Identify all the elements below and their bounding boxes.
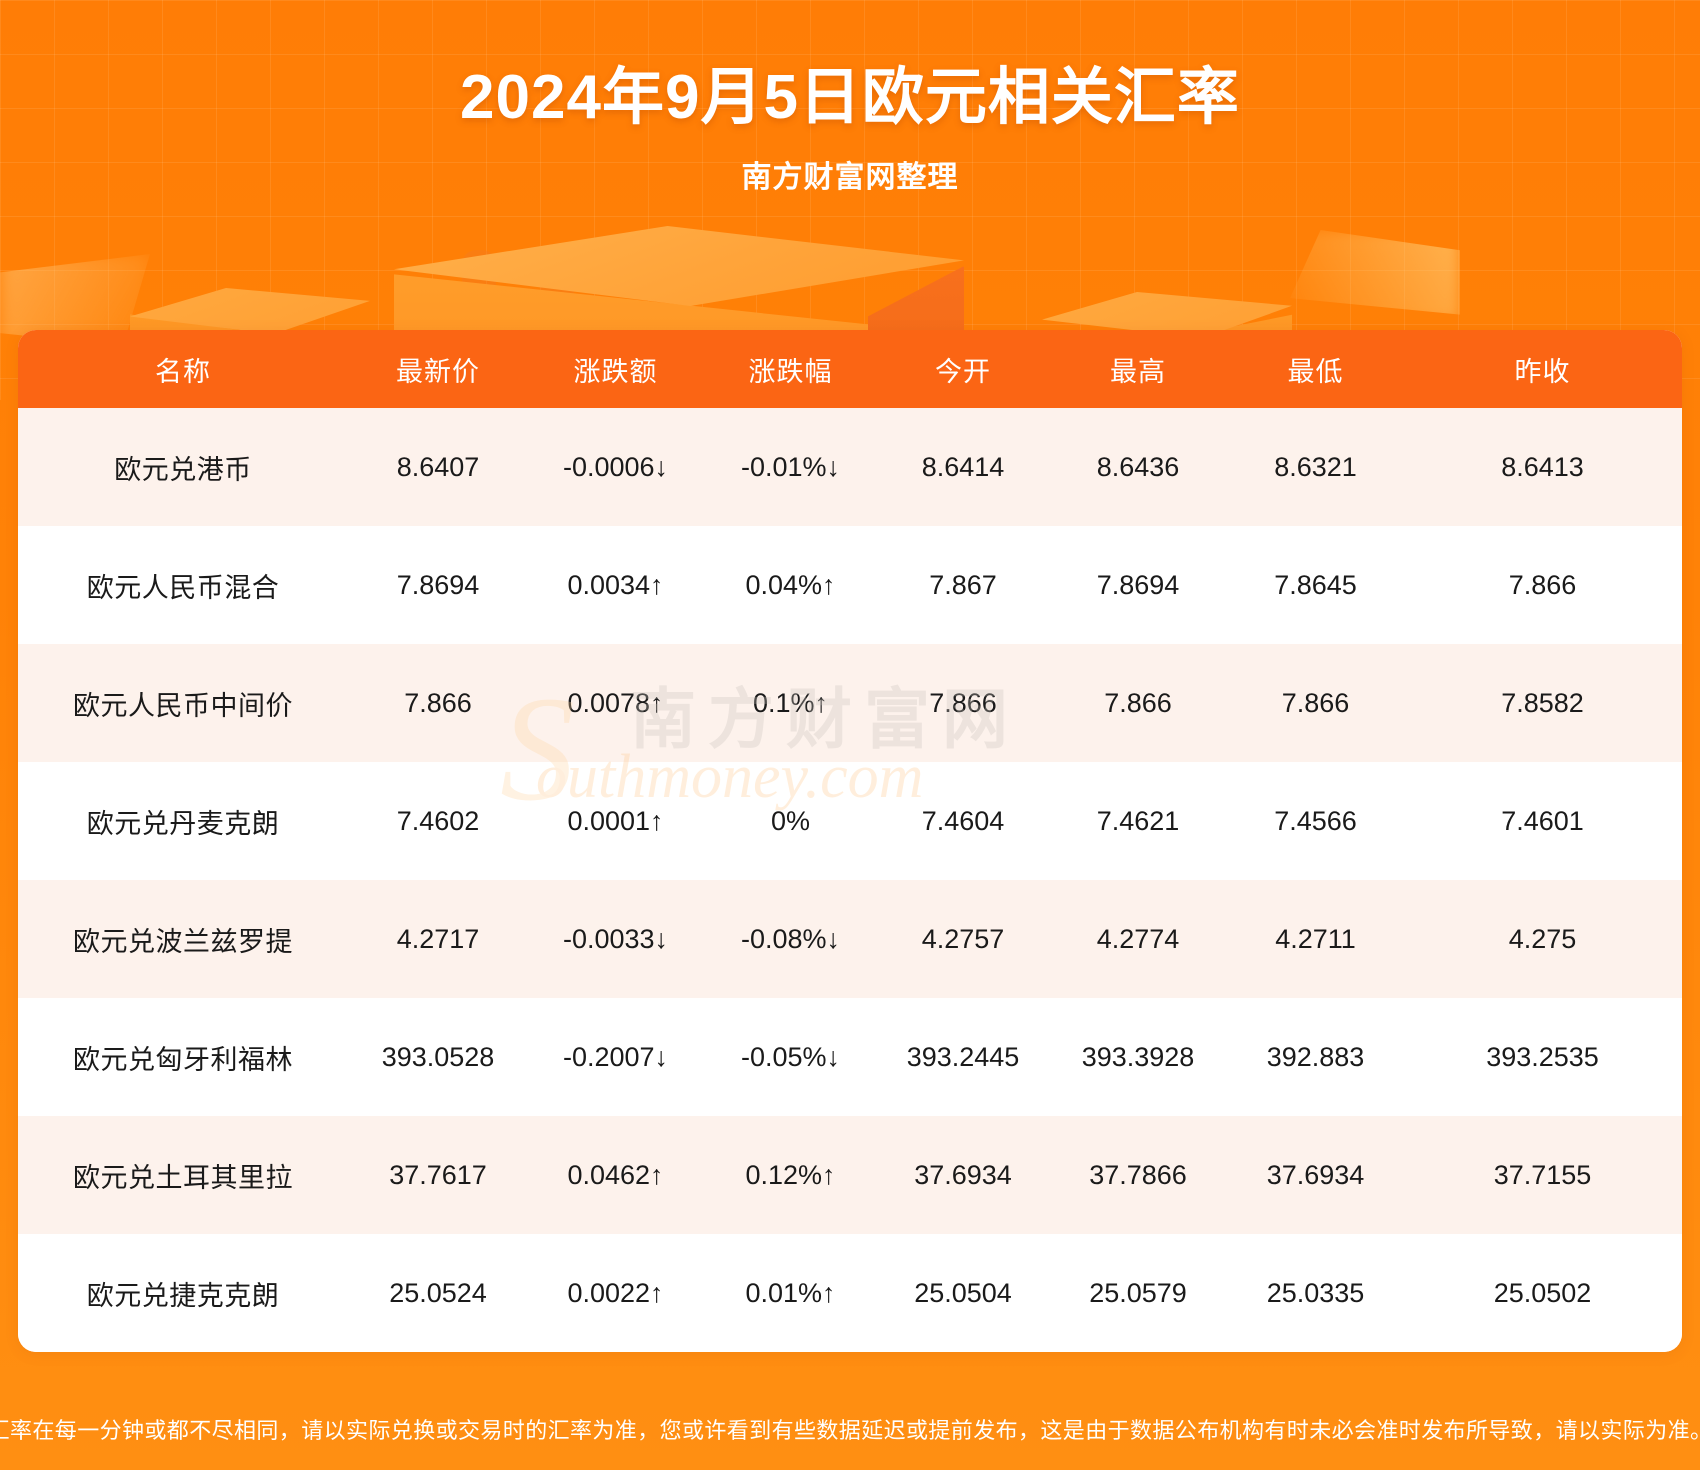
cell-open-price: 7.867 [878,526,1048,644]
cell-open-price: 7.866 [878,644,1048,762]
cell-change-amount: -0.0033↓ [528,880,703,998]
cell-change-percent: -0.05%↓ [703,998,878,1116]
cell-prev-close: 37.7155 [1403,1116,1682,1234]
cell-high-price: 7.8694 [1048,526,1228,644]
cell-prev-close: 7.866 [1403,526,1682,644]
cell-open-price: 393.2445 [878,998,1048,1116]
cell-currency-name: 欧元兑土耳其里拉 [18,1116,348,1234]
column-header-change[interactable]: 涨跌额 [528,330,703,408]
cell-high-price: 7.866 [1048,644,1228,762]
cell-low-price: 4.2711 [1228,880,1403,998]
cell-prev-close: 25.0502 [1403,1234,1682,1352]
disclaimer-text: 汇率在每一分钟或都不尽相同，请以实际兑换或交易时的汇率为准，您或许看到有些数据延… [0,1413,1700,1445]
cell-high-price: 37.7866 [1048,1116,1228,1234]
column-header-prev[interactable]: 昨收 [1403,330,1682,408]
cell-open-price: 7.4604 [878,762,1048,880]
cell-change-amount: 0.0462↑ [528,1116,703,1234]
cell-latest-price: 393.0528 [348,998,528,1116]
cell-latest-price: 25.0524 [348,1234,528,1352]
cell-low-price: 7.4566 [1228,762,1403,880]
cell-change-percent: -0.08%↓ [703,880,878,998]
cell-change-percent: 0% [703,762,878,880]
cell-latest-price: 8.6407 [348,408,528,526]
cell-change-amount: -0.2007↓ [528,998,703,1116]
column-header-pct[interactable]: 涨跌幅 [703,330,878,408]
table-row[interactable]: 欧元人民币中间价7.8660.0078↑0.1%↑7.8667.8667.866… [18,644,1682,762]
page-title: 2024年9月5日欧元相关汇率 [0,46,1700,136]
exchange-rate-infographic: 2024年9月5日欧元相关汇率 南方财富网整理 名称 最新价 涨跌额 涨跌幅 今… [0,0,1700,1470]
table-header: 名称 最新价 涨跌额 涨跌幅 今开 最高 最低 昨收 [18,330,1682,408]
cell-latest-price: 7.8694 [348,526,528,644]
footer: 汇率在每一分钟或都不尽相同，请以实际兑换或交易时的汇率为准，您或许看到有些数据延… [0,1388,1700,1470]
table-row[interactable]: 欧元兑港币8.6407-0.0006↓-0.01%↓8.64148.64368.… [18,408,1682,526]
column-header-name[interactable]: 名称 [18,330,348,408]
cell-change-percent: 0.01%↑ [703,1234,878,1352]
cell-change-percent: 0.1%↑ [703,644,878,762]
banner: 2024年9月5日欧元相关汇率 南方财富网整理 [0,0,1700,330]
rates-card: 名称 最新价 涨跌额 涨跌幅 今开 最高 最低 昨收 欧元兑港币8.6407-0… [18,330,1682,1352]
cell-currency-name: 欧元兑匈牙利福林 [18,998,348,1116]
column-header-low[interactable]: 最低 [1228,330,1403,408]
column-header-price[interactable]: 最新价 [348,330,528,408]
cell-prev-close: 393.2535 [1403,998,1682,1116]
table-row[interactable]: 欧元兑丹麦克朗7.46020.0001↑0%7.46047.46217.4566… [18,762,1682,880]
cell-open-price: 25.0504 [878,1234,1048,1352]
cell-change-amount: 0.0022↑ [528,1234,703,1352]
cell-low-price: 7.866 [1228,644,1403,762]
table-row[interactable]: 欧元兑土耳其里拉37.76170.0462↑0.12%↑37.693437.78… [18,1116,1682,1234]
cell-low-price: 392.883 [1228,998,1403,1116]
cell-currency-name: 欧元兑捷克克朗 [18,1234,348,1352]
cell-high-price: 7.4621 [1048,762,1228,880]
cell-high-price: 8.6436 [1048,408,1228,526]
cell-change-percent: 0.04%↑ [703,526,878,644]
cell-high-price: 4.2774 [1048,880,1228,998]
table-row[interactable]: 欧元兑匈牙利福林393.0528-0.2007↓-0.05%↓393.24453… [18,998,1682,1116]
cell-change-percent: 0.12%↑ [703,1116,878,1234]
cell-latest-price: 7.4602 [348,762,528,880]
cell-low-price: 37.6934 [1228,1116,1403,1234]
cell-low-price: 7.8645 [1228,526,1403,644]
cell-low-price: 25.0335 [1228,1234,1403,1352]
cell-currency-name: 欧元兑丹麦克朗 [18,762,348,880]
cell-open-price: 8.6414 [878,408,1048,526]
cell-currency-name: 欧元兑波兰兹罗提 [18,880,348,998]
cell-low-price: 8.6321 [1228,408,1403,526]
cell-prev-close: 7.8582 [1403,644,1682,762]
exchange-rates-table: 名称 最新价 涨跌额 涨跌幅 今开 最高 最低 昨收 欧元兑港币8.6407-0… [18,330,1682,1352]
cell-prev-close: 7.4601 [1403,762,1682,880]
cell-prev-close: 8.6413 [1403,408,1682,526]
cell-change-amount: 0.0001↑ [528,762,703,880]
page-subtitle: 南方财富网整理 [0,152,1700,196]
cell-open-price: 37.6934 [878,1116,1048,1234]
cell-latest-price: 7.866 [348,644,528,762]
table-row[interactable]: 欧元兑波兰兹罗提4.2717-0.0033↓-0.08%↓4.27574.277… [18,880,1682,998]
cell-open-price: 4.2757 [878,880,1048,998]
column-header-open[interactable]: 今开 [878,330,1048,408]
cell-change-amount: 0.0078↑ [528,644,703,762]
cell-high-price: 393.3928 [1048,998,1228,1116]
cell-currency-name: 欧元人民币混合 [18,526,348,644]
cell-change-percent: -0.01%↓ [703,408,878,526]
cell-currency-name: 欧元兑港币 [18,408,348,526]
cell-latest-price: 4.2717 [348,880,528,998]
cell-latest-price: 37.7617 [348,1116,528,1234]
cell-currency-name: 欧元人民币中间价 [18,644,348,762]
table-body: 欧元兑港币8.6407-0.0006↓-0.01%↓8.64148.64368.… [18,408,1682,1352]
cell-change-amount: 0.0034↑ [528,526,703,644]
cell-prev-close: 4.275 [1403,880,1682,998]
table-header-row: 名称 最新价 涨跌额 涨跌幅 今开 最高 最低 昨收 [18,330,1682,408]
table-row[interactable]: 欧元人民币混合7.86940.0034↑0.04%↑7.8677.86947.8… [18,526,1682,644]
cell-high-price: 25.0579 [1048,1234,1228,1352]
cell-change-amount: -0.0006↓ [528,408,703,526]
table-row[interactable]: 欧元兑捷克克朗25.05240.0022↑0.01%↑25.050425.057… [18,1234,1682,1352]
column-header-high[interactable]: 最高 [1048,330,1228,408]
